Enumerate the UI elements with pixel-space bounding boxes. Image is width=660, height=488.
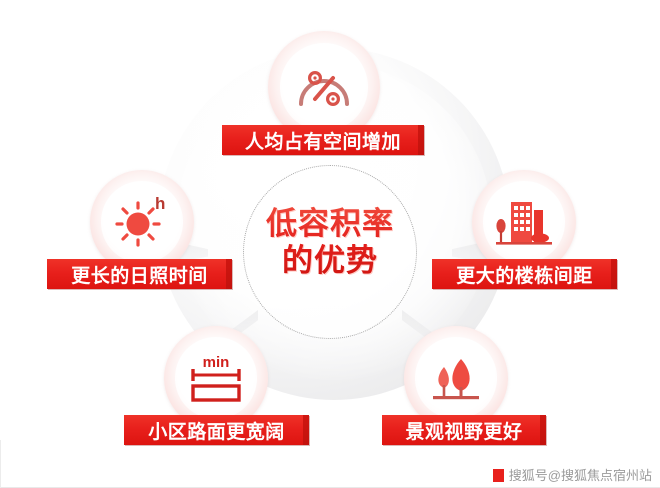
- node-per-capita-space-label[interactable]: 人均占有空间增加: [222, 125, 424, 155]
- sohu-logo-icon: [493, 469, 504, 482]
- node-sunlight-hours-label[interactable]: 更长的日照时间: [47, 259, 232, 289]
- center-title-line-2: 的优势: [243, 242, 417, 279]
- center-title-line-1: 低容积率: [243, 205, 417, 242]
- banner-text: 景观视野更好: [405, 417, 522, 444]
- svg-text:h: h: [155, 194, 165, 213]
- frame-edge-left: [0, 440, 1, 488]
- node-wider-roads-label[interactable]: 小区路面更宽阔: [124, 415, 309, 445]
- watermark-text: 搜狐号@搜狐焦点宿州站: [509, 465, 652, 484]
- banner-text: 人均占有空间增加: [245, 127, 401, 154]
- banner-text: 更大的楼栋间距: [456, 261, 593, 288]
- node-building-spacing-label[interactable]: 更大的楼栋间距: [432, 259, 617, 289]
- svg-text:min: min: [203, 354, 230, 371]
- banner-text: 更长的日照时间: [71, 261, 208, 288]
- watermark: 搜狐号@搜狐焦点宿州站: [493, 465, 652, 484]
- infographic-canvas: 低容积率 的优势 人均占有空间增加: [0, 0, 660, 488]
- node-better-view-label[interactable]: 景观视野更好: [382, 415, 546, 445]
- page-title: 低容积率 的优势: [243, 205, 417, 279]
- banner-text: 小区路面更宽阔: [148, 417, 285, 444]
